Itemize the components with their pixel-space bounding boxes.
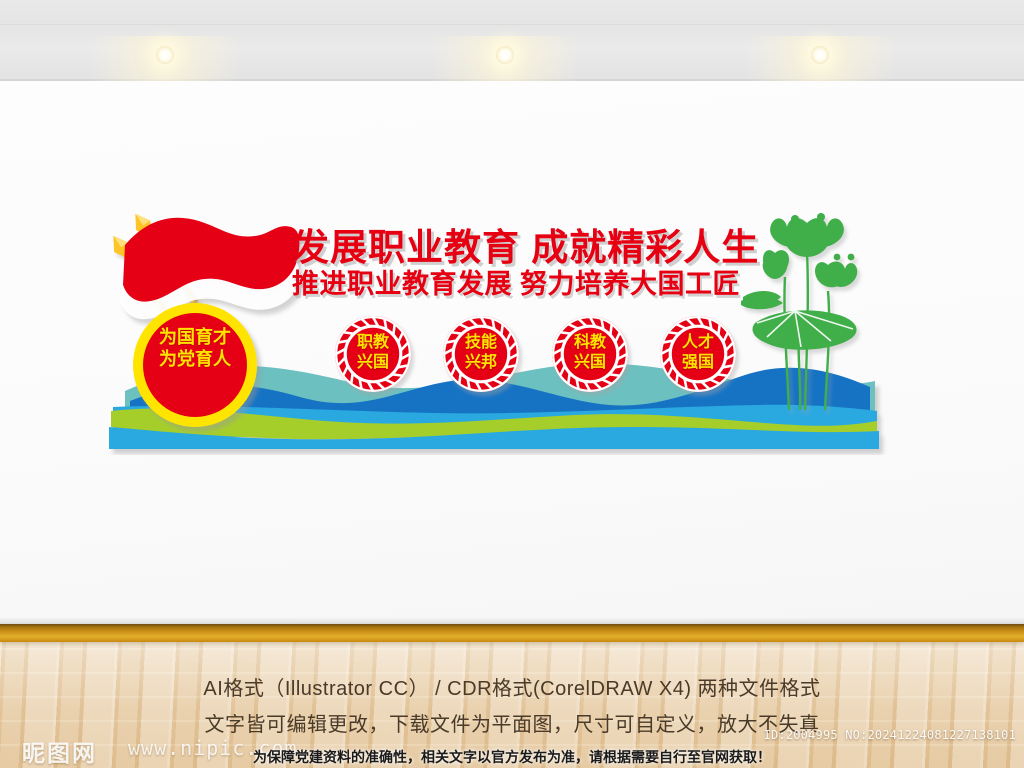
floor-baseboard bbox=[0, 624, 1024, 642]
red-flag-icon bbox=[119, 218, 301, 320]
wall-mural-artwork: 发展职业教育 成就精彩人生 推进职业教育发展 努力培养大国工匠 为国育才 为党育… bbox=[95, 205, 895, 455]
watermark-id: ID:2004995 NO:20241224081227138101 bbox=[764, 728, 1016, 742]
emblem-circle bbox=[133, 303, 257, 427]
ceiling-spotlight-right-icon bbox=[811, 46, 829, 64]
badge-rencai-qiangguo bbox=[660, 316, 736, 392]
badge-kejiao-xingguo bbox=[552, 316, 628, 392]
notice-bar: 为保障党建资料的准确性，相关文字以官方发布为准，请根据需要自行至官网获取！ bbox=[0, 746, 1024, 768]
ceiling-spotlight-center-icon bbox=[496, 46, 514, 64]
badge-jineng-xingbang bbox=[443, 316, 519, 392]
notice-text: 为保障党建资料的准确性，相关文字以官方发布为准，请根据需要自行至官网获取！ bbox=[253, 747, 771, 767]
badge-zhijiao-xingguo bbox=[335, 316, 411, 392]
ceiling bbox=[0, 0, 1024, 80]
ceiling-spotlight-left-icon bbox=[156, 46, 174, 64]
screenshot-root: 发展职业教育 成就精彩人生 推进职业教育发展 努力培养大国工匠 为国育才 为党育… bbox=[0, 0, 1024, 768]
ceiling-seam bbox=[0, 24, 1024, 25]
footer-format-line: AI格式（Illustrator CC） / CDR格式(CorelDRAW X… bbox=[0, 672, 1024, 701]
